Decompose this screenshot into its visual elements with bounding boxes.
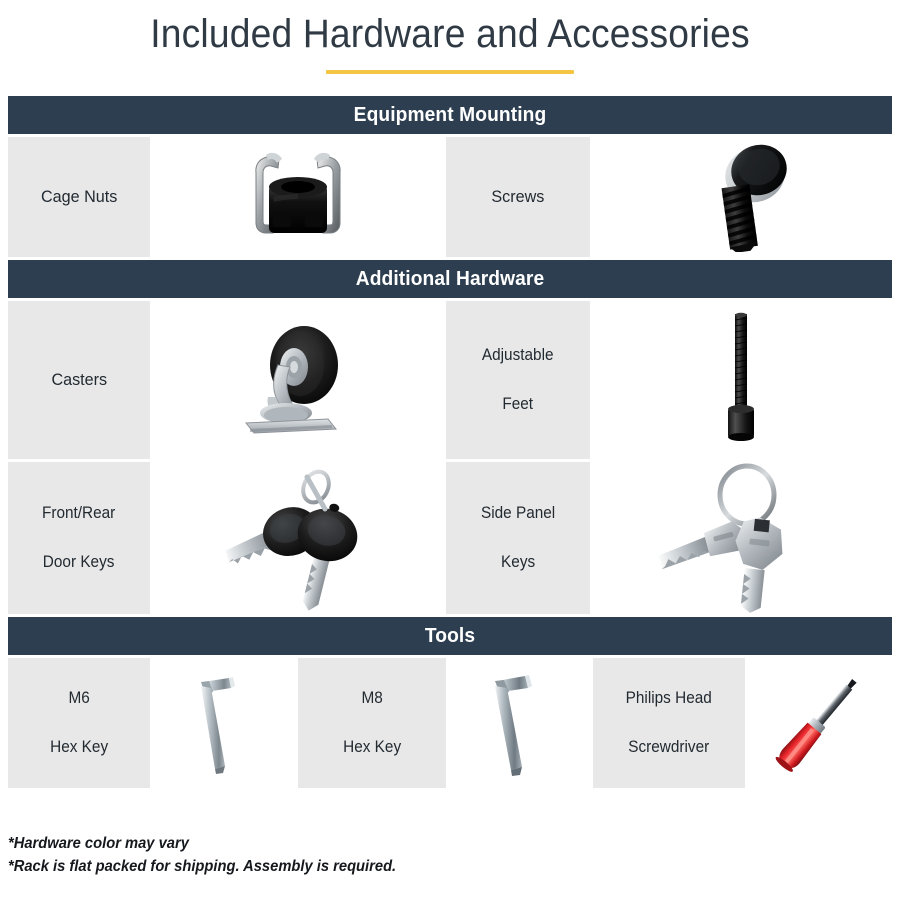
cell-label-casters: Casters bbox=[8, 301, 150, 459]
cell-image-m6-hex-key bbox=[150, 658, 298, 788]
cell-image-casters bbox=[150, 301, 446, 459]
section-tools: Tools M6Hex Key bbox=[8, 617, 892, 788]
table-row: Cage Nuts bbox=[8, 137, 892, 257]
cell-image-adjustable-feet bbox=[590, 301, 892, 459]
section-header-bar: Tools bbox=[8, 617, 892, 655]
title-underline-rule bbox=[326, 70, 574, 74]
cell-image-side-panel-keys bbox=[590, 462, 892, 614]
cell-image-cage-nuts bbox=[150, 137, 446, 257]
table-row: Front/RearDoor Keys bbox=[8, 462, 892, 614]
cell-label-front-rear-door-keys: Front/RearDoor Keys bbox=[8, 462, 150, 614]
section-heading-additional-hardware: Additional Hardware bbox=[26, 260, 875, 298]
label-line-1: Philips Head bbox=[626, 686, 712, 711]
section-heading-tools: Tools bbox=[26, 617, 875, 655]
label-line-2: Hex Key bbox=[50, 735, 108, 760]
section-body-additional-hardware: Casters bbox=[8, 301, 892, 614]
label-line-2: Keys bbox=[481, 550, 555, 575]
cell-label-screws: Screws bbox=[446, 137, 590, 257]
label-text: AdjustableFeet bbox=[480, 343, 555, 417]
label-text: Screws bbox=[492, 185, 545, 210]
cell-label-m6-hex-key: M6Hex Key bbox=[8, 658, 150, 788]
footnote-flat-packed: *Rack is flat packed for shipping. Assem… bbox=[8, 855, 396, 878]
cell-label-side-panel-keys: Side PanelKeys bbox=[446, 462, 590, 614]
label-line-1: M6 bbox=[50, 686, 108, 711]
label-line-1: Adjustable bbox=[482, 343, 554, 368]
caster-icon bbox=[228, 315, 368, 445]
label-text: M6Hex Key bbox=[48, 686, 109, 760]
label-line-2: Screwdriver bbox=[626, 735, 712, 760]
label-line-2: Hex Key bbox=[343, 735, 401, 760]
door-keys-icon bbox=[203, 463, 393, 613]
cell-image-screws bbox=[590, 137, 892, 257]
label-text: Front/RearDoor Keys bbox=[40, 501, 117, 575]
section-header-bar: Additional Hardware bbox=[8, 260, 892, 298]
title-block: Included Hardware and Accessories bbox=[0, 0, 900, 74]
section-additional-hardware: Additional Hardware Casters bbox=[8, 260, 892, 614]
label-text: Casters bbox=[51, 368, 107, 393]
label-text: Side PanelKeys bbox=[479, 501, 557, 575]
cell-label-philips-head-screwdriver: Philips HeadScrewdriver bbox=[593, 658, 745, 788]
section-header-bar: Equipment Mounting bbox=[8, 96, 892, 134]
screw-icon bbox=[681, 142, 801, 252]
label-text: Cage Nuts bbox=[41, 185, 117, 210]
label-text: M8Hex Key bbox=[341, 686, 402, 760]
section-body-equipment-mounting: Cage Nuts bbox=[8, 137, 892, 257]
cell-label-m8-hex-key: M8Hex Key bbox=[298, 658, 446, 788]
section-heading-equipment-mounting: Equipment Mounting bbox=[26, 96, 875, 134]
philips-screwdriver-icon bbox=[764, 666, 874, 781]
cage-nut-icon bbox=[233, 145, 363, 249]
label-line-1: M8 bbox=[343, 686, 401, 711]
section-equipment-mounting: Equipment Mounting Cage Nuts bbox=[8, 96, 892, 257]
table-row: M6Hex Key bbox=[8, 658, 892, 788]
label-line-1: Side Panel bbox=[481, 501, 555, 526]
side-panel-keys-icon bbox=[651, 463, 831, 613]
section-body-tools: M6Hex Key bbox=[8, 658, 892, 788]
adjustable-foot-icon bbox=[706, 310, 776, 450]
label-text: Philips HeadScrewdriver bbox=[624, 686, 715, 760]
cell-image-philips-head-screwdriver bbox=[745, 658, 892, 788]
page-title: Included Hardware and Accessories bbox=[32, 12, 869, 56]
hex-key-m6-icon bbox=[189, 668, 259, 778]
footnote-hardware-color: *Hardware color may vary bbox=[8, 832, 396, 855]
hex-key-m8-icon bbox=[484, 667, 556, 779]
cell-image-m8-hex-key bbox=[446, 658, 593, 788]
hardware-accessories-page: Included Hardware and Accessories Equipm… bbox=[0, 0, 900, 900]
table-row: Casters bbox=[8, 301, 892, 459]
cell-image-front-rear-door-keys bbox=[150, 462, 446, 614]
label-line-1: Front/Rear bbox=[42, 501, 115, 526]
label-line-2: Door Keys bbox=[42, 550, 115, 575]
label-line-2: Feet bbox=[482, 392, 554, 417]
cell-label-cage-nuts: Cage Nuts bbox=[8, 137, 150, 257]
sections-container: Equipment Mounting Cage Nuts bbox=[0, 96, 900, 788]
cell-label-adjustable-feet: AdjustableFeet bbox=[446, 301, 590, 459]
footnotes: *Hardware color may vary *Rack is flat p… bbox=[8, 832, 417, 879]
